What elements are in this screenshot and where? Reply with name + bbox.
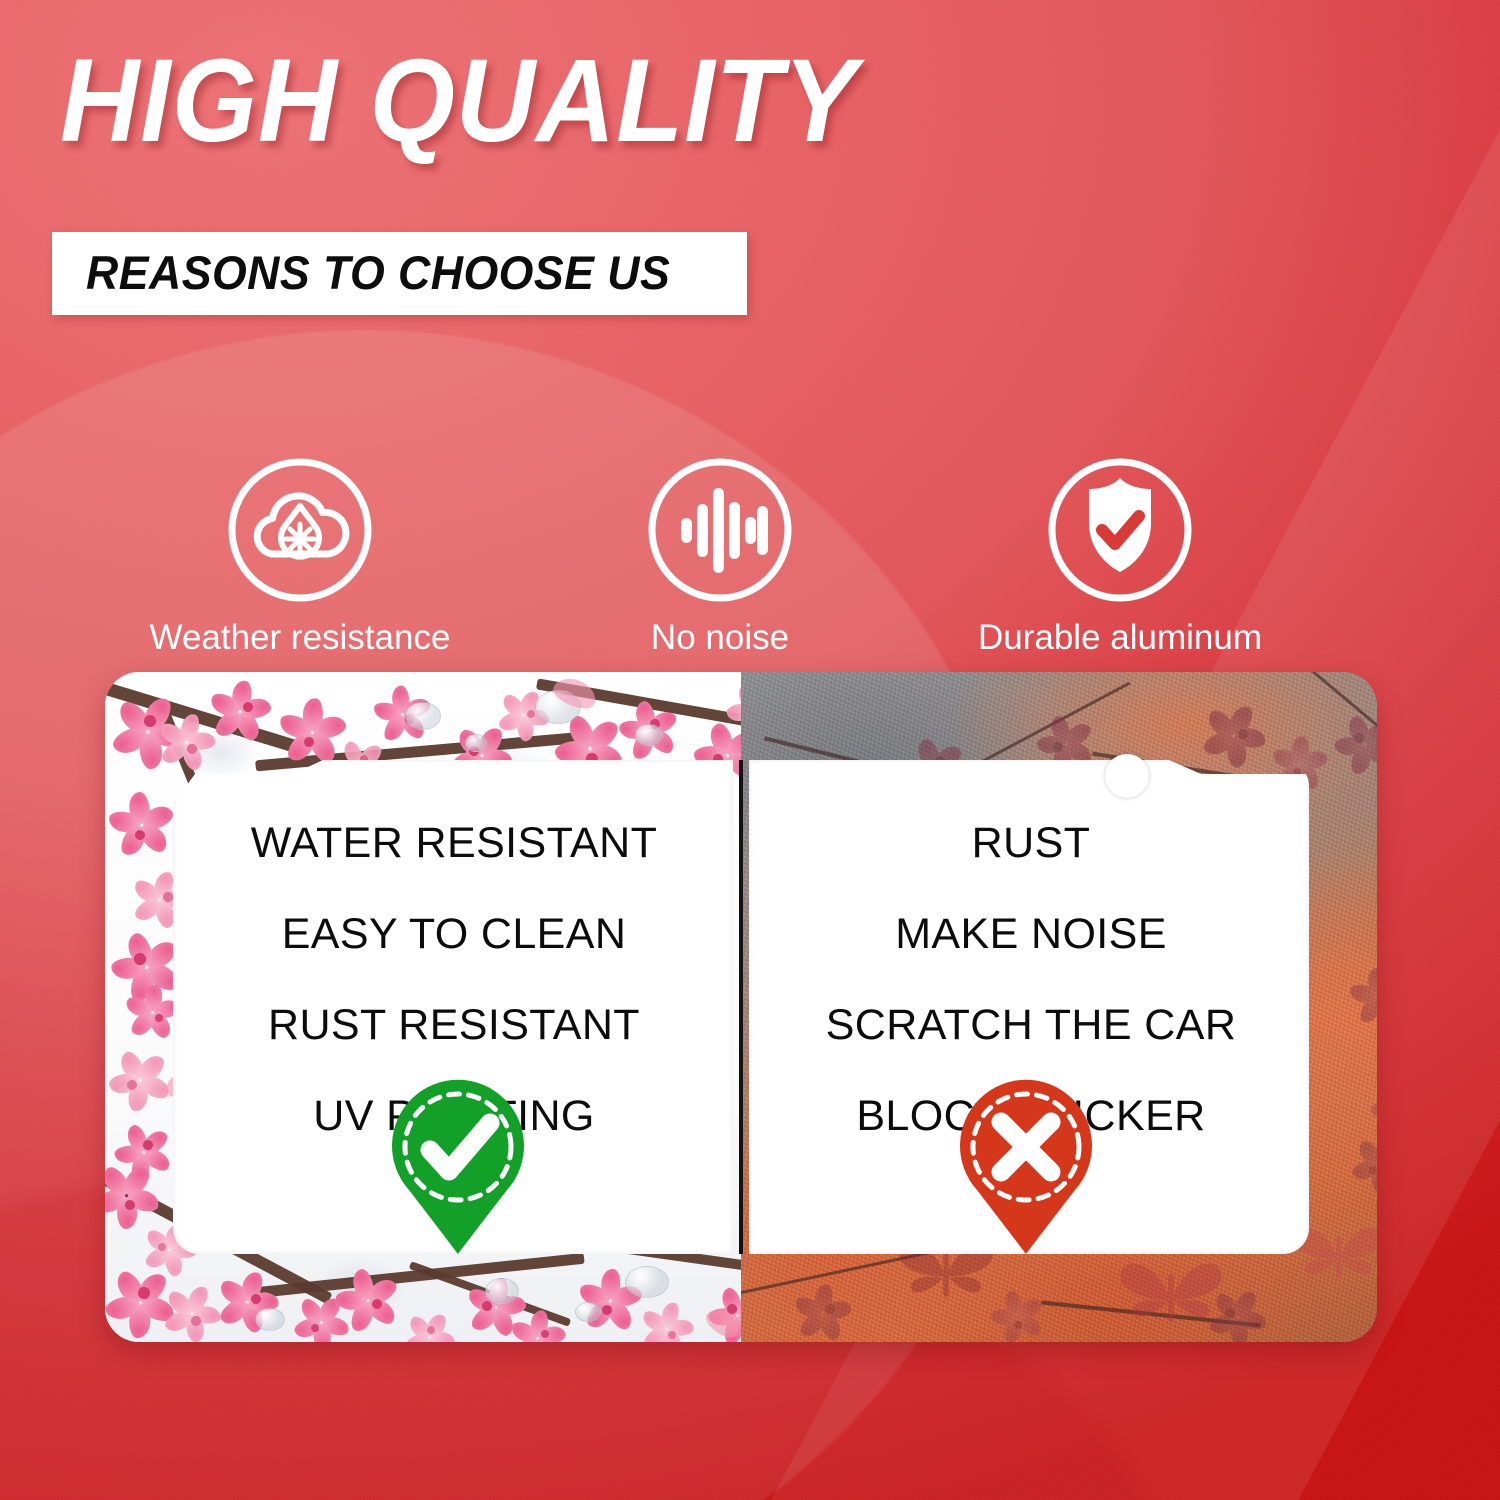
plate-good-line: RUST RESISTANT <box>167 1004 741 1047</box>
mounting-hole <box>1105 754 1149 798</box>
feature-durable-aluminum: Durable aluminum <box>905 455 1335 658</box>
plate-bad-line: MAKE NOISE <box>741 913 1321 956</box>
check-pin-icon <box>383 1072 533 1256</box>
feature-no-noise: No noise <box>595 455 845 658</box>
water-droplet <box>465 734 487 752</box>
water-droplet <box>635 724 663 746</box>
feature-label: Durable aluminum <box>905 619 1335 658</box>
plate-good-line: WATER RESISTANT <box>167 822 741 865</box>
water-droplet <box>575 1302 601 1322</box>
water-droplet <box>255 1308 285 1331</box>
shield-check-icon <box>905 455 1335 605</box>
subtitle-text: REASONS TO CHOOSE US <box>86 249 670 296</box>
feature-label: No noise <box>595 619 845 658</box>
subtitle-banner: REASONS TO CHOOSE US <box>52 232 747 315</box>
water-droplet <box>485 1278 519 1304</box>
feature-label: Weather resistance <box>40 619 560 658</box>
cross-pin-icon <box>951 1072 1101 1256</box>
plate-good: WATER RESISTANT EASY TO CLEAN RUST RESIS… <box>105 672 741 1342</box>
feature-row: Weather resistance No noise <box>0 455 1500 658</box>
cloud-water-snowflake-icon <box>40 455 560 605</box>
plate-bad-line: SCRATCH THE CAR <box>741 1004 1321 1047</box>
water-droplet <box>405 702 441 730</box>
water-droplet <box>625 1266 669 1298</box>
sound-wave-icon <box>595 455 845 605</box>
plate-bad-line: RUST <box>741 822 1321 865</box>
plate-good-line: EASY TO CLEAN <box>167 913 741 956</box>
license-plate-comparison: WATER RESISTANT EASY TO CLEAN RUST RESIS… <box>105 672 1377 1342</box>
plate-bad: RUST MAKE NOISE SCRATCH THE CAR BLOCK ST… <box>741 672 1377 1342</box>
page-title: HIGH QUALITY <box>60 42 858 160</box>
feature-weather-resistance: Weather resistance <box>40 455 560 658</box>
cherry-blossom <box>991 1298 1045 1342</box>
cherry-blossom <box>1206 697 1280 771</box>
